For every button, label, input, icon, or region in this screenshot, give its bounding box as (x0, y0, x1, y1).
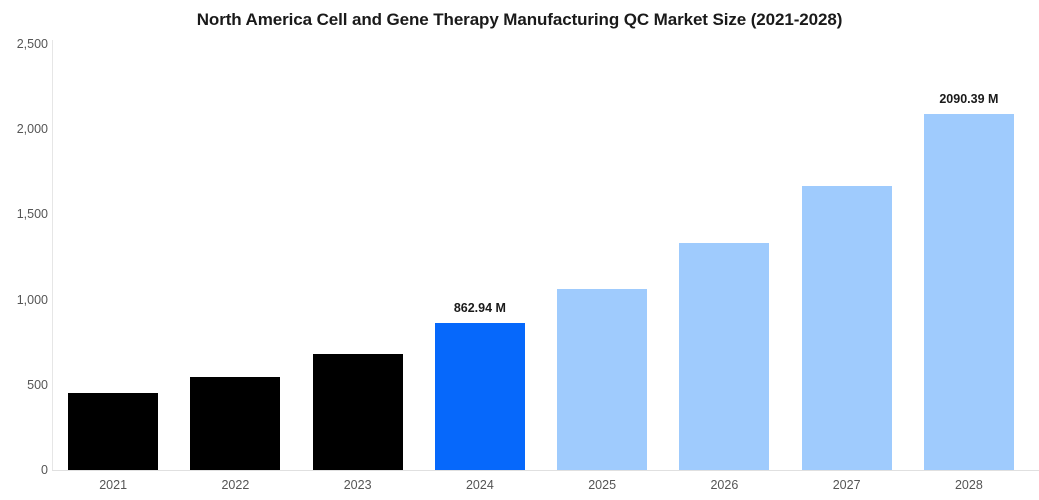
bar-chart: North America Cell and Gene Therapy Manu… (0, 0, 1039, 500)
bar-2021[interactable] (68, 393, 158, 470)
x-tick-label-2023: 2023 (344, 478, 372, 492)
y-tick-label: 500 (4, 378, 48, 392)
bar-value-label-2024: 862.94 M (454, 301, 506, 315)
bar-2023[interactable] (313, 354, 403, 470)
y-tick-label: 2,500 (4, 37, 48, 51)
x-tick-label-2026: 2026 (710, 478, 738, 492)
x-tick-label-2025: 2025 (588, 478, 616, 492)
y-tick-label: 1,000 (4, 293, 48, 307)
bar-2028[interactable] (924, 114, 1014, 470)
y-axis-tick-labels: 05001,0001,5002,0002,500 (0, 0, 48, 500)
bar-2022[interactable] (190, 377, 280, 470)
x-tick-label-2021: 2021 (99, 478, 127, 492)
x-tick-label-2027: 2027 (833, 478, 861, 492)
x-tick-label-2022: 2022 (221, 478, 249, 492)
bar-value-label-2028: 2090.39 M (939, 92, 998, 106)
bar-2026[interactable] (679, 243, 769, 470)
y-tick-label: 0 (4, 463, 48, 477)
y-tick-label: 2,000 (4, 122, 48, 136)
bar-2024[interactable] (435, 323, 525, 470)
x-tick-label-2028: 2028 (955, 478, 983, 492)
bar-2025[interactable] (557, 289, 647, 470)
x-tick-label-2024: 2024 (466, 478, 494, 492)
x-axis-line (52, 470, 1039, 471)
y-tick-label: 1,500 (4, 207, 48, 221)
bar-2027[interactable] (802, 186, 892, 470)
chart-title: North America Cell and Gene Therapy Manu… (0, 10, 1039, 30)
